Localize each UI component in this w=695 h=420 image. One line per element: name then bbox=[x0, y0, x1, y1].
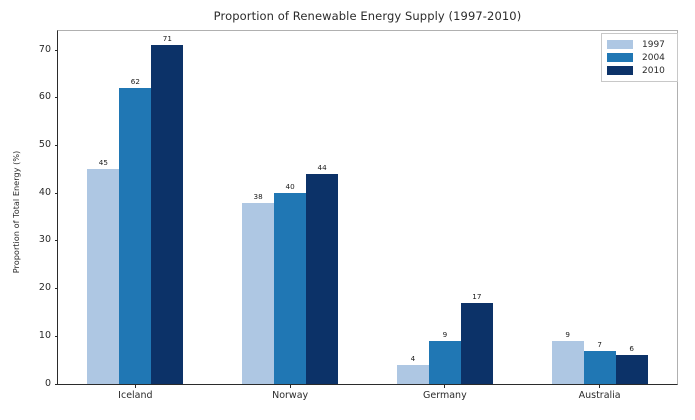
bar-value-label: 7 bbox=[597, 340, 602, 349]
bar-australia-2004[interactable]: 7 bbox=[584, 351, 616, 384]
x-tick-label-iceland: Iceland bbox=[65, 390, 205, 401]
y-tick-mark bbox=[55, 193, 59, 194]
y-tick-label: 40 bbox=[39, 187, 51, 198]
y-tick-label: 70 bbox=[39, 44, 51, 55]
y-axis-label: Proportion of Total Energy (%) bbox=[11, 132, 21, 292]
y-tick-label: 60 bbox=[39, 91, 51, 102]
bar-value-label: 44 bbox=[318, 163, 327, 172]
y-tick-label: 20 bbox=[39, 282, 51, 293]
bar-germany-2004[interactable]: 9 bbox=[429, 341, 461, 384]
legend-swatch-2010 bbox=[607, 66, 633, 75]
legend-label: 2004 bbox=[642, 53, 665, 63]
bar-australia-2010[interactable]: 6 bbox=[616, 355, 648, 384]
y-tick-mark bbox=[55, 145, 59, 146]
legend-label: 1997 bbox=[642, 40, 665, 50]
bar-norway-1997[interactable]: 38 bbox=[242, 203, 274, 384]
legend-item-1997[interactable]: 1997 bbox=[607, 38, 672, 51]
bar-value-label: 38 bbox=[254, 192, 263, 201]
x-tick-label-norway: Norway bbox=[220, 390, 360, 401]
bar-iceland-2004[interactable]: 62 bbox=[119, 88, 151, 384]
legend-swatch-2004 bbox=[607, 53, 633, 62]
bar-value-label: 45 bbox=[99, 158, 108, 167]
chart-legend: 199720042010 bbox=[601, 33, 678, 82]
bar-value-label: 4 bbox=[411, 354, 416, 363]
legend-swatch-1997 bbox=[607, 40, 633, 49]
x-tick-label-australia: Australia bbox=[530, 390, 670, 401]
y-tick-mark bbox=[55, 288, 59, 289]
y-tick-label: 10 bbox=[39, 330, 51, 341]
bar-value-label: 40 bbox=[286, 182, 295, 191]
bar-iceland-2010[interactable]: 71 bbox=[151, 45, 183, 384]
bar-germany-2010[interactable]: 17 bbox=[461, 303, 493, 384]
legend-item-2004[interactable]: 2004 bbox=[607, 51, 672, 64]
y-tick-mark bbox=[55, 384, 59, 385]
y-tick-mark bbox=[55, 50, 59, 51]
bar-australia-1997[interactable]: 9 bbox=[552, 341, 584, 384]
y-tick-mark bbox=[55, 97, 59, 98]
plot-area: 010203040506070456271Iceland384044Norway… bbox=[57, 30, 678, 385]
bar-value-label: 62 bbox=[131, 77, 140, 86]
x-tick-mark bbox=[135, 384, 136, 388]
bar-iceland-1997[interactable]: 45 bbox=[87, 169, 119, 384]
bar-norway-2010[interactable]: 44 bbox=[306, 174, 338, 384]
legend-item-2010[interactable]: 2010 bbox=[607, 64, 672, 77]
bar-norway-2004[interactable]: 40 bbox=[274, 193, 306, 384]
x-tick-mark bbox=[290, 384, 291, 388]
y-tick-mark bbox=[55, 336, 59, 337]
legend-label: 2010 bbox=[642, 66, 665, 76]
plot-inner: 010203040506070456271Iceland384044Norway… bbox=[58, 31, 677, 384]
y-tick-mark bbox=[55, 240, 59, 241]
x-tick-label-germany: Germany bbox=[375, 390, 515, 401]
y-tick-label: 0 bbox=[45, 378, 51, 389]
y-tick-label: 30 bbox=[39, 234, 51, 245]
x-tick-mark bbox=[599, 384, 600, 388]
bar-germany-1997[interactable]: 4 bbox=[397, 365, 429, 384]
y-tick-label: 50 bbox=[39, 139, 51, 150]
bar-value-label: 71 bbox=[163, 34, 172, 43]
chart-figure: Proportion of Renewable Energy Supply (1… bbox=[0, 0, 695, 420]
bar-value-label: 9 bbox=[565, 330, 570, 339]
bar-value-label: 17 bbox=[472, 292, 481, 301]
bar-value-label: 6 bbox=[629, 344, 634, 353]
chart-title: Proportion of Renewable Energy Supply (1… bbox=[57, 9, 678, 23]
x-tick-mark bbox=[444, 384, 445, 388]
bar-value-label: 9 bbox=[443, 330, 448, 339]
